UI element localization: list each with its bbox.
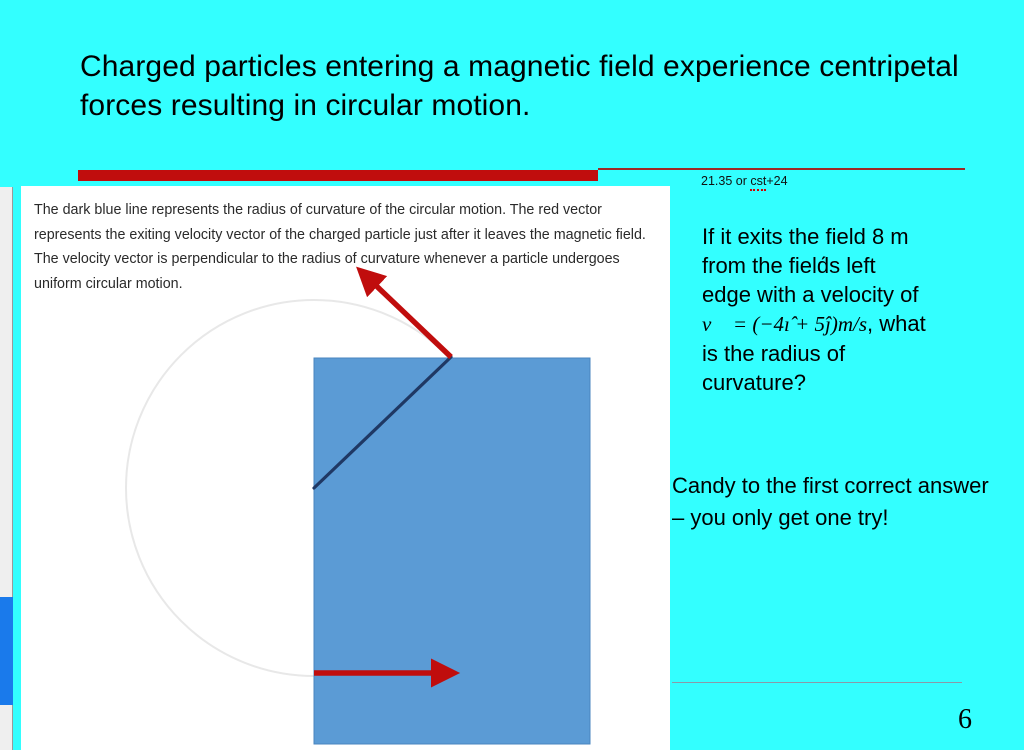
magnetic-field-region bbox=[314, 358, 590, 744]
question-line-3: edge with a velocity of bbox=[702, 280, 1002, 309]
question-line-5: is the radius of bbox=[702, 339, 1002, 368]
content-panel: The dark blue line represents the radius… bbox=[21, 186, 670, 750]
page-title: Charged particles entering a magnetic fi… bbox=[80, 47, 960, 125]
answer-hint-misspelled-word: cst bbox=[750, 174, 766, 191]
answer-hint-note: 21.35 or cst+24 bbox=[701, 174, 788, 188]
title-divider-thick bbox=[78, 170, 598, 181]
velocity-equation: v⃗ = (−4ı̂ + 5ĵ)m/s bbox=[702, 312, 867, 336]
vertical-scrollbar-track[interactable] bbox=[0, 187, 13, 750]
question-line-1: If it exits the field 8 m bbox=[702, 222, 1002, 251]
question-line-4: v⃗ = (−4ı̂ + 5ĵ)m/s, what bbox=[702, 309, 1002, 339]
answer-hint-suffix: +24 bbox=[766, 174, 787, 188]
candy-incentive-text: Candy to the first correct answer – you … bbox=[672, 470, 1002, 534]
title-divider-thin bbox=[598, 168, 965, 170]
exit-velocity-vector-arrow-icon bbox=[367, 277, 451, 357]
magnetic-field-diagram bbox=[21, 186, 670, 750]
slide-canvas: Charged particles entering a magnetic fi… bbox=[0, 0, 1024, 750]
vertical-scrollbar-thumb[interactable] bbox=[0, 597, 13, 705]
question-math-tail: , what bbox=[867, 311, 926, 336]
answer-hint-prefix: 21.35 or bbox=[701, 174, 750, 188]
footer-divider bbox=[672, 682, 962, 683]
question-text: If it exits the field 8 m from the field… bbox=[702, 222, 1002, 397]
page-number: 6 bbox=[958, 704, 998, 736]
question-line-6: curvature? bbox=[702, 368, 1002, 397]
question-line-2: from the field́s left bbox=[702, 251, 1002, 280]
